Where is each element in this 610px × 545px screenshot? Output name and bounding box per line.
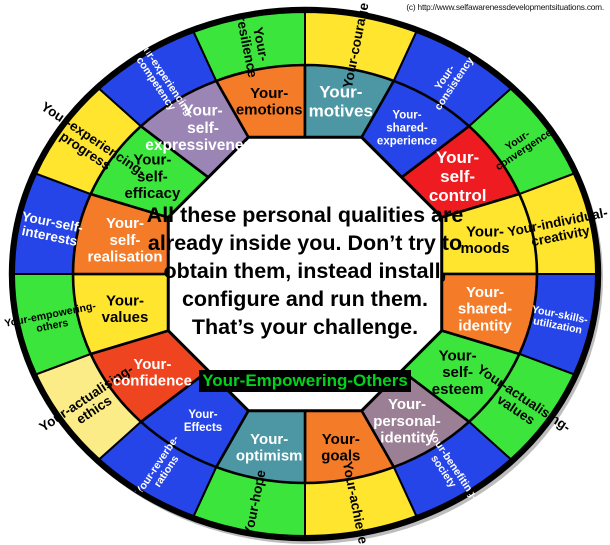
empowering-banner-label[interactable]: Your-Empowering-Others bbox=[202, 371, 408, 390]
wheel-svg: All these personal qualities arealready … bbox=[0, 0, 610, 545]
copyright-notice: (c) http://www.selfawarenessdevelopments… bbox=[406, 2, 604, 12]
center-quote: All these personal qualities arealready … bbox=[147, 203, 464, 339]
wheel-diagram: All these personal qualities arealready … bbox=[0, 0, 610, 545]
inner-segment-label: Your-moods bbox=[460, 223, 509, 257]
inner-segment-label: Your-values bbox=[102, 292, 149, 326]
inner-segment-label: Your-Effects bbox=[184, 409, 222, 434]
inner-segment-label: Your-goals bbox=[321, 431, 360, 465]
